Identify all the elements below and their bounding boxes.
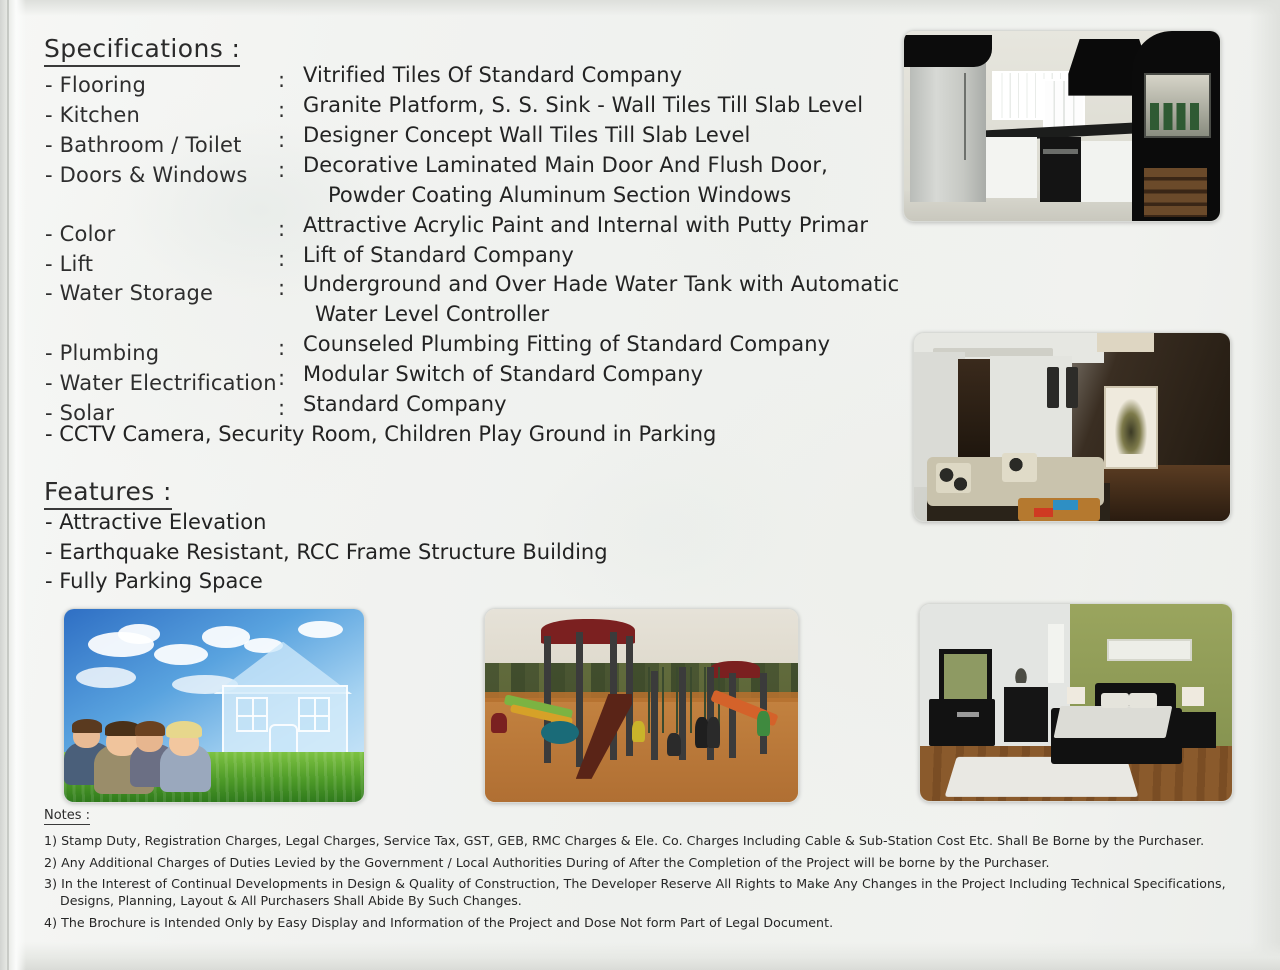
spec-colon: : (278, 276, 285, 300)
bedroom-photo (919, 603, 1233, 802)
scan-blotch (520, 430, 820, 630)
spec-label-color: - Color (45, 222, 115, 246)
spec-label-kitchen: - Kitchen (45, 103, 140, 127)
spec-label-water-storage: - Water Storage (45, 281, 213, 305)
spec-value-bathroom-toilet: Designer Concept Wall Tiles Till Slab Le… (303, 123, 750, 147)
spec-value-color: Attractive Acrylic Paint and Internal wi… (303, 213, 868, 237)
note-item-3-line2: Designs, Planning, Layout & All Purchase… (60, 893, 522, 908)
spec-value-kitchen: Granite Platform, S. S. Sink - Wall Tile… (303, 93, 863, 117)
notes-heading-text: Notes : (44, 808, 90, 825)
scan-edge-left-line (7, 0, 9, 970)
features-heading: Features : (44, 477, 172, 506)
scan-edge-bottom (0, 942, 1280, 970)
note-item-4: 4) The Brochure is Intended Only by Easy… (44, 915, 833, 930)
spec-label-doors-windows: - Doors & Windows (45, 163, 248, 187)
spec-label-bathroom-toilet: - Bathroom / Toilet (45, 133, 242, 157)
scan-edge-left (0, 0, 26, 970)
spec-value-plumbing: Counseled Plumbing Fitting of Standard C… (303, 332, 830, 356)
feature-item-parking: - Fully Parking Space (45, 569, 263, 593)
spec-colon: : (278, 128, 285, 152)
living-room-photo (913, 332, 1231, 522)
spec-colon: : (278, 336, 285, 360)
spec-label-flooring: - Flooring (45, 73, 146, 97)
brochure-page: Specifications : - Flooring : Vitrified … (0, 0, 1280, 970)
feature-item-earthquake-resistant: - Earthquake Resistant, RCC Frame Struct… (45, 540, 608, 564)
features-heading-text: Features : (44, 477, 172, 510)
spec-value-lift: Lift of Standard Company (303, 243, 574, 267)
specifications-heading: Specifications : (44, 34, 240, 63)
scan-edge-top (0, 0, 1280, 16)
spec-colon: : (278, 68, 285, 92)
spec-colon: : (278, 158, 285, 182)
spec-label-lift: - Lift (45, 252, 93, 276)
spec-value-doors-windows-line2: Powder Coating Aluminum Section Windows (328, 183, 791, 207)
spec-value-flooring: Vitrified Tiles Of Standard Company (303, 63, 682, 87)
kitchen-photo (903, 30, 1221, 222)
specifications-heading-text: Specifications : (44, 34, 240, 67)
scan-edge-right (1250, 0, 1280, 970)
family-house-photo (63, 608, 365, 803)
spec-value-water-storage: Underground and Over Hade Water Tank wit… (303, 272, 899, 296)
spec-label-water-electrification: - Water Electrification (45, 371, 277, 395)
playground-photo (484, 608, 799, 803)
spec-value-water-electrification: Modular Switch of Standard Company (303, 362, 703, 386)
spec-colon: : (278, 217, 285, 241)
spec-value-doors-windows: Decorative Laminated Main Door And Flush… (303, 153, 828, 177)
spec-colon: : (278, 396, 285, 420)
notes-heading: Notes : (44, 808, 90, 823)
spec-value-solar: Standard Company (303, 392, 507, 416)
spec-colon: : (278, 98, 285, 122)
spec-value-water-storage-line2: Water Level Controller (315, 302, 549, 326)
note-item-2: 2) Any Additional Charges of Duties Levi… (44, 855, 1050, 870)
feature-item-elevation: - Attractive Elevation (45, 510, 266, 534)
note-item-1: 1) Stamp Duty, Registration Charges, Leg… (44, 833, 1204, 848)
spec-colon: : (278, 247, 285, 271)
spec-colon: : (278, 366, 285, 390)
spec-label-plumbing: - Plumbing (45, 341, 159, 365)
spec-row-cctv-security-playground: - CCTV Camera, Security Room, Children P… (45, 422, 716, 446)
note-item-3: 3) In the Interest of Continual Developm… (44, 876, 1226, 891)
